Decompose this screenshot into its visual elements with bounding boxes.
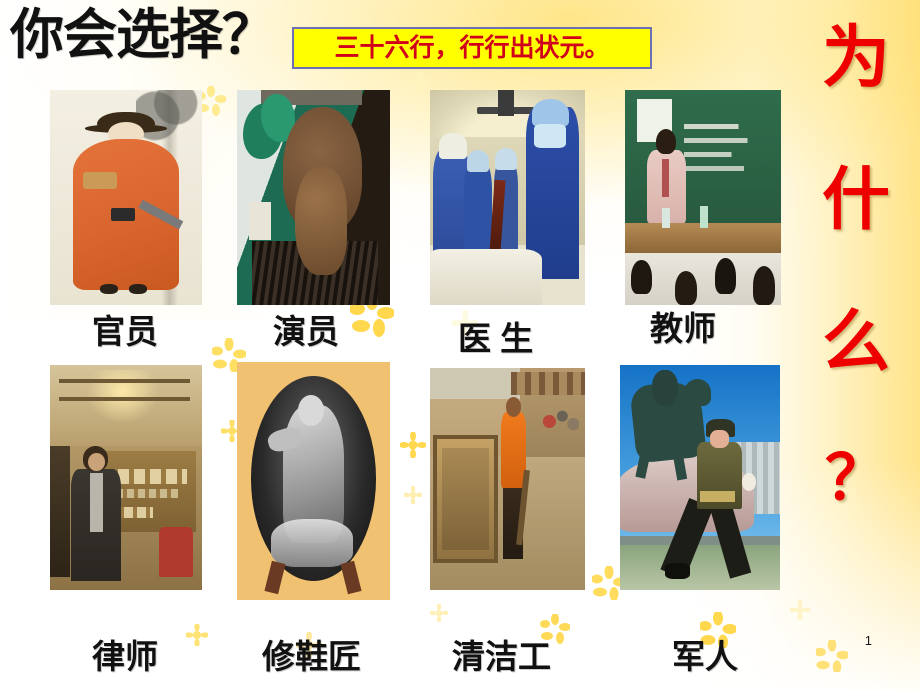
page-number: 1 — [865, 633, 872, 648]
why-char-3: 么 — [822, 308, 890, 376]
photo-lawyer — [50, 365, 202, 590]
caption-actor: 演员 — [273, 315, 339, 348]
flower-decoration-icon — [186, 624, 208, 646]
caption-teacher: 教师 — [650, 312, 716, 345]
caption-doctor: 医 生 — [458, 322, 533, 355]
flower-decoration-icon — [404, 486, 422, 504]
photo-cobbler — [237, 362, 390, 600]
flower-decoration-icon — [790, 600, 810, 620]
caption-official: 官员 — [92, 315, 158, 348]
why-char-1: 为 — [822, 24, 890, 92]
flower-decoration-icon — [410, 72, 430, 92]
caption-lawyer: 律师 — [92, 640, 158, 673]
flower-decoration-icon — [816, 640, 848, 672]
proverb-callout-box: 三十六行，行行出状元。 — [292, 27, 652, 69]
photo-teacher — [625, 90, 781, 305]
caption-cobbler: 修鞋匠 — [262, 640, 361, 673]
why-char-4: ？ — [825, 448, 887, 510]
why-question-column: 为 什 么 ？ — [810, 24, 902, 644]
caption-soldier: 军人 — [672, 640, 738, 673]
slide-canvas: 你会选择？ 三十六行，行行出状元。 官员 演员 医 生 — [0, 0, 920, 690]
slide-title: 你会选择？ — [10, 8, 275, 62]
proverb-text: 三十六行，行行出状元。 — [334, 36, 609, 61]
caption-cleaner: 清洁工 — [452, 640, 551, 673]
why-char-2: 什 — [822, 166, 890, 234]
photo-official — [50, 90, 202, 305]
flower-decoration-icon — [430, 604, 448, 622]
photo-cleaner — [430, 368, 585, 590]
photo-actor — [237, 90, 390, 305]
photo-doctor — [430, 90, 585, 305]
photo-soldier — [620, 365, 780, 590]
flower-decoration-icon — [400, 432, 426, 458]
